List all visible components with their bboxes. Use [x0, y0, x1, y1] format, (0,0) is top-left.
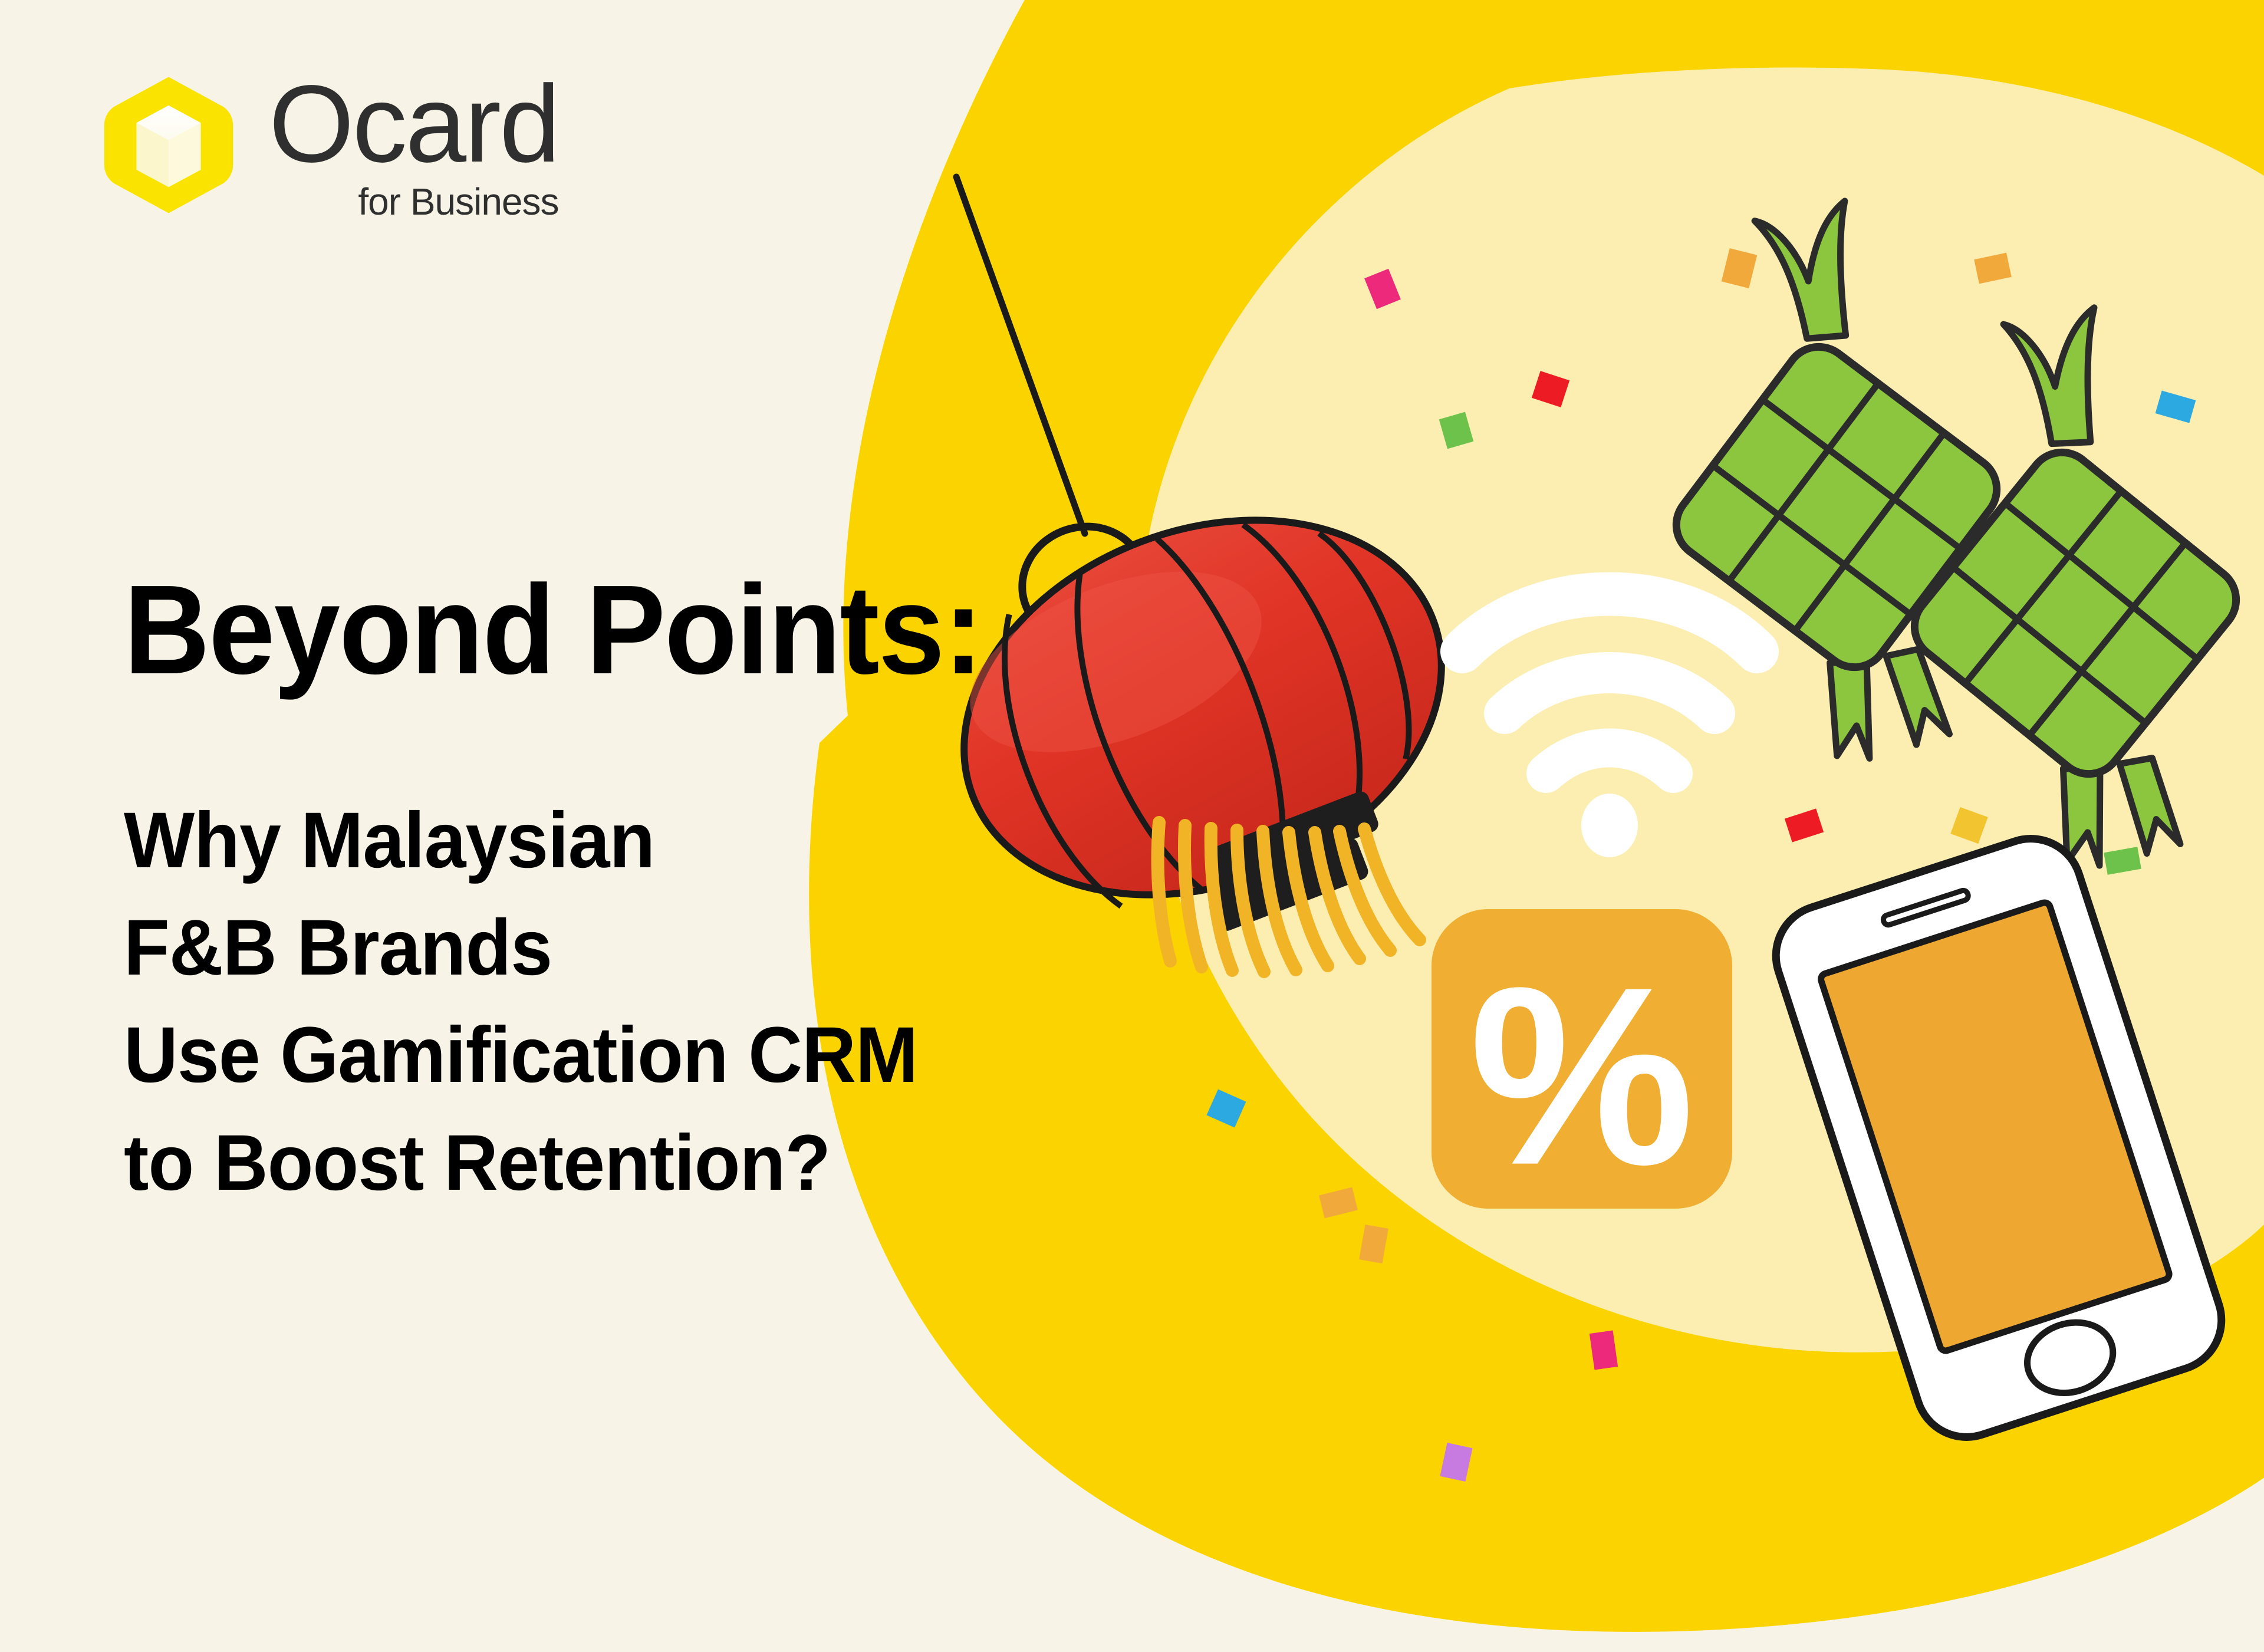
confetti-piece	[1590, 1331, 1618, 1370]
headline-block: Beyond Points: Why Malaysian F&B Brands …	[124, 566, 1244, 1217]
subtitle-line: to Boost Retention?	[124, 1110, 1188, 1217]
logo-tagline: for Business	[358, 183, 558, 221]
poster-canvas: % Ocard for Business Beyond Poi	[0, 0, 2264, 1652]
subtitle-line: Use Gamification CRM	[124, 1002, 1188, 1109]
brand-logo[interactable]: Ocard for Business	[94, 70, 559, 221]
subtitle-line: F&B Brands	[124, 894, 1188, 1002]
logo-wordmark: Ocard	[269, 70, 559, 179]
percent-badge: %	[1432, 909, 1732, 1218]
subtitle-line: Why Malaysian	[124, 787, 1188, 894]
page-title: Beyond Points:	[124, 566, 1177, 693]
logo-wordmark-group: Ocard for Business	[269, 70, 559, 221]
ocard-cube-hexagon-logo	[94, 71, 243, 219]
wifi-dot	[1581, 794, 1638, 857]
percent-symbol: %	[1469, 935, 1694, 1218]
subtitle: Why Malaysian F&B Brands Use Gamificatio…	[124, 787, 1188, 1217]
